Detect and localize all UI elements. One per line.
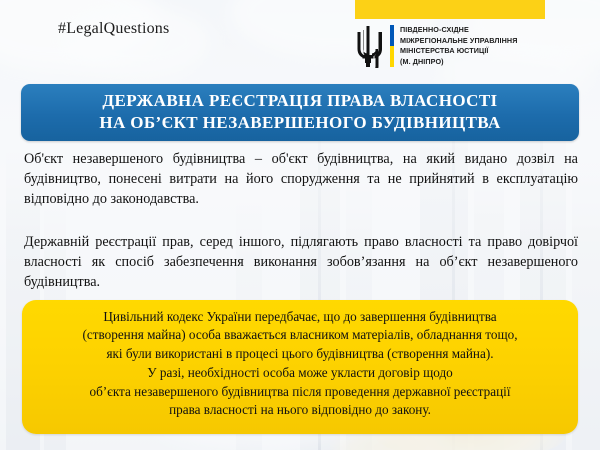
title-line-1: ДЕРЖАВНА РЕЄСТРАЦІЯ ПРАВА ВЛАСНОСТІ: [31, 90, 569, 112]
flag-accent-bar: [355, 0, 545, 19]
hashtag-label: #LegalQuestions: [58, 20, 169, 38]
callout-block-2: У разі, необхідності особа може укласти …: [32, 364, 568, 419]
title-line-2: НА ОБ’ЄКТ НЕЗАВЕРШЕНОГО БУДІВНИЦТВА: [31, 112, 569, 134]
callout-line-5: об’єкта незавершеного будівництва після …: [89, 384, 510, 399]
callout-block-1: Цивільний кодекс України передбачає, що …: [32, 308, 568, 363]
callout-line-2: (створення майна) особа вважається власн…: [83, 327, 518, 342]
infographic-poster: #LegalQuestions: [0, 0, 600, 450]
ministry-logo: ПІВДЕННО-СХІДНЕ МІЖРЕГІОНАЛЬНЕ УПРАВЛІНН…: [352, 24, 517, 68]
flag-divider-icon: [390, 25, 394, 67]
callout-box: Цивільний кодекс України передбачає, що …: [22, 300, 578, 434]
registration-paragraph: Державній реєстрації прав, серед іншого,…: [24, 232, 578, 292]
definition-paragraph: Об'єкт незавершеного будівництва – об'єк…: [24, 149, 578, 209]
ministry-name-line-3: МІНІСТЕРСТВА ЮСТИЦІЇ: [400, 46, 517, 57]
callout-line-6: права власності на нього відповідно до з…: [169, 402, 431, 417]
ministry-name-line-2: МІЖРЕГІОНАЛЬНЕ УПРАВЛІННЯ: [400, 36, 517, 47]
callout-line-3: які були використані в процесі цього буд…: [106, 346, 493, 361]
callout-line-4: У разі, необхідності особа може укласти …: [147, 365, 453, 380]
ukraine-tryzub-icon: [352, 24, 384, 68]
ministry-name-line-1: ПІВДЕННО-СХІДНЕ: [400, 25, 517, 36]
ministry-name-line-4: (М. ДНІПРО): [400, 57, 517, 68]
callout-line-1: Цивільний кодекс України передбачає, що …: [103, 309, 496, 324]
ministry-name: ПІВДЕННО-СХІДНЕ МІЖРЕГІОНАЛЬНЕ УПРАВЛІНН…: [400, 25, 517, 67]
title-banner: ДЕРЖАВНА РЕЄСТРАЦІЯ ПРАВА ВЛАСНОСТІ НА О…: [21, 84, 579, 141]
